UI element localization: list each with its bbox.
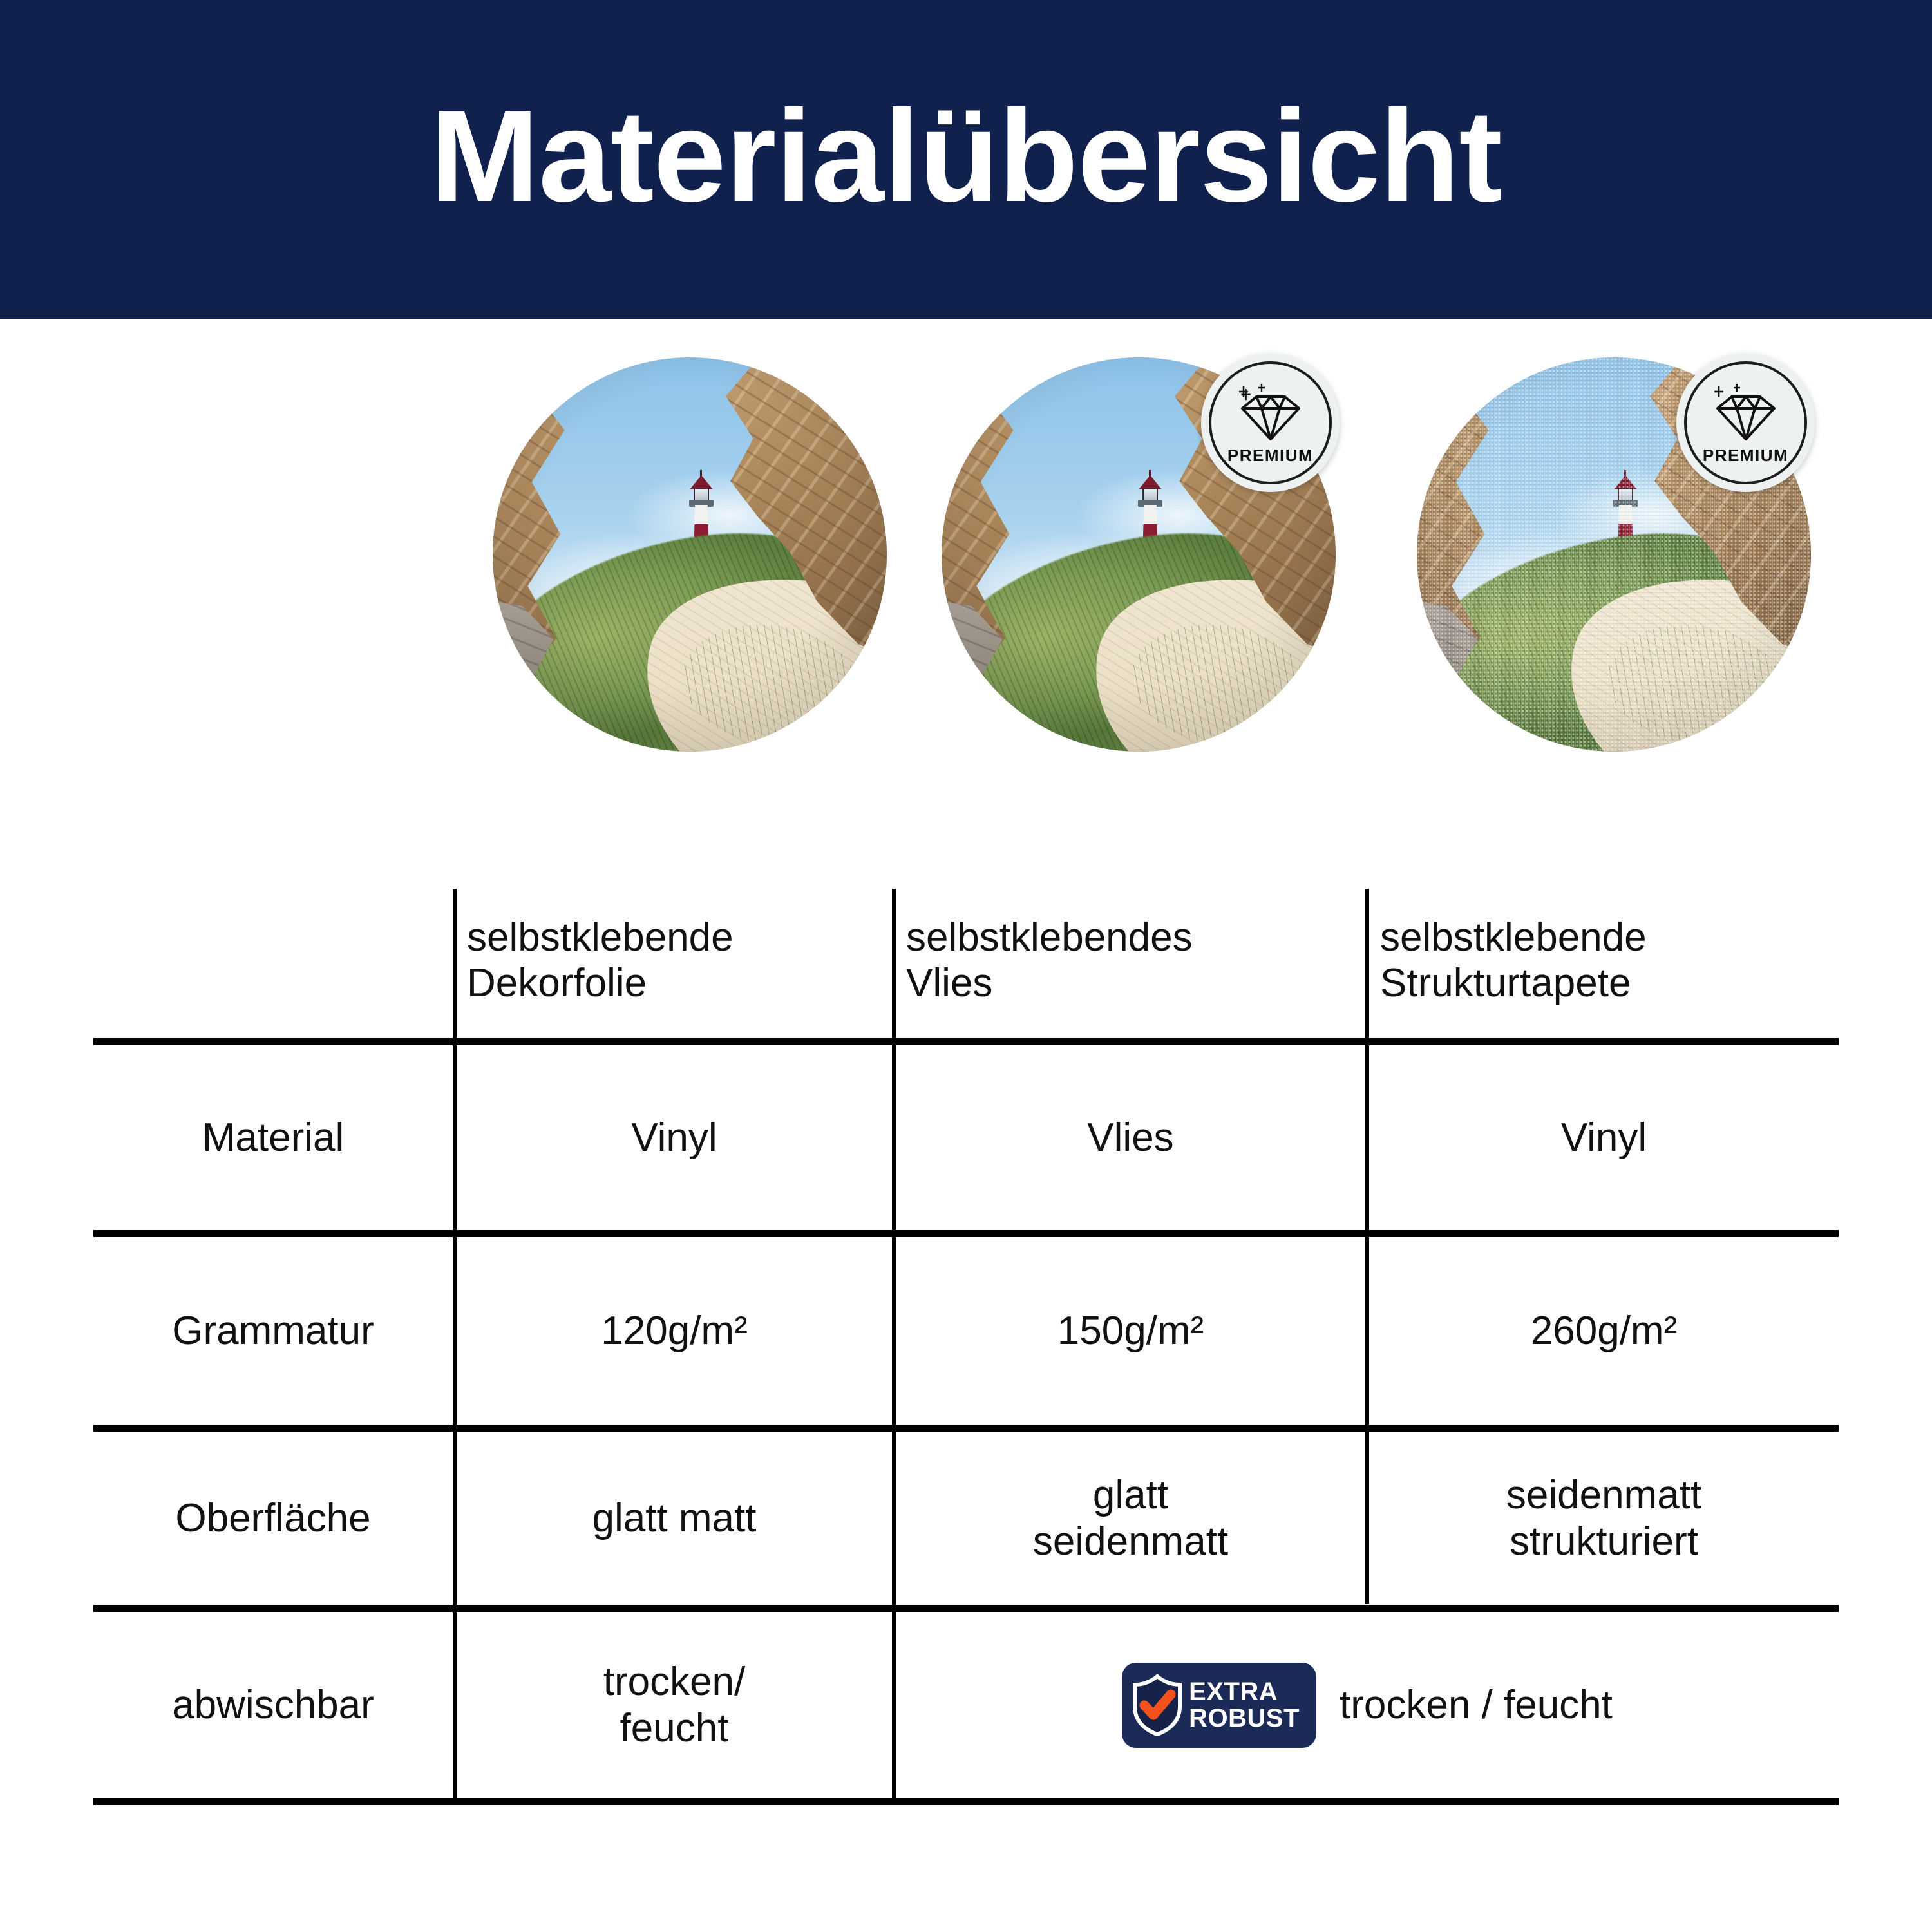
extra-robust-badge: EXTRA ROBUST — [1122, 1663, 1316, 1748]
extra-robust-line1: EXTRA — [1189, 1679, 1300, 1705]
preview-strukturtapete[interactable]: PREMIUM — [1417, 357, 1811, 752]
cell-material-strukturtapete: Vinyl — [1369, 1045, 1839, 1230]
diamond-icon — [1712, 380, 1779, 443]
row-divider-2 — [93, 1425, 1839, 1432]
cell-grammatur-dekorfolie: 120g/m² — [457, 1237, 892, 1425]
preview-vlies[interactable]: PREMIUM — [942, 357, 1336, 752]
column-header-1-line1: selbstklebende — [467, 914, 734, 960]
column-header-2-line1: selbstklebendes — [906, 914, 1193, 960]
column-header-1-line2: Dekorfolie — [467, 960, 647, 1006]
row-divider-bottom — [93, 1798, 1839, 1805]
row-label-material: Material — [93, 1045, 453, 1230]
column-header-3: selbstklebende Strukturtapete — [1380, 887, 1837, 1033]
cell-oberflaeche-strukturtapete: seidenmatt strukturiert — [1369, 1432, 1839, 1605]
material-spec-table: selbstklebende Dekorfolie selbstklebende… — [93, 857, 1839, 1803]
column-header-1: selbstklebende Dekorfolie — [467, 887, 879, 1033]
cell-abwischbar-merged: EXTRA ROBUST trocken / feucht — [896, 1612, 1839, 1798]
extra-robust-line2: ROBUST — [1189, 1705, 1300, 1732]
shield-check-icon — [1132, 1674, 1182, 1736]
row-label-abwischbar: abwischbar — [93, 1612, 453, 1798]
lighthouse-dune-scene — [493, 357, 887, 752]
column-header-3-line1: selbstklebende — [1380, 914, 1647, 960]
page-header: Materialübersicht — [0, 0, 1932, 319]
cell-material-vlies: Vlies — [896, 1045, 1365, 1230]
column-header-2: selbstklebendes Vlies — [906, 887, 1357, 1033]
page-title: Materialübersicht — [430, 91, 1502, 222]
cell-grammatur-strukturtapete: 260g/m² — [1369, 1237, 1839, 1425]
premium-badge-label: PREMIUM — [1227, 446, 1313, 466]
row-label-grammatur: Grammatur — [93, 1237, 453, 1425]
column-header-2-line2: Vlies — [906, 960, 992, 1006]
preview-dekorfolie[interactable] — [493, 357, 887, 752]
preview-image-dekorfolie — [493, 357, 887, 752]
cell-oberflaeche-dekorfolie: glatt matt — [457, 1432, 892, 1605]
cell-oberflaeche-vlies: glatt seidenmatt — [896, 1432, 1365, 1605]
cell-abwischbar-dekorfolie: trocken/ feucht — [457, 1612, 892, 1798]
row-divider-header — [93, 1038, 1839, 1045]
cell-grammatur-vlies: 150g/m² — [896, 1237, 1365, 1425]
material-preview-row: PREMIUM — [0, 357, 1932, 757]
row-label-oberflaeche: Oberfläche — [93, 1432, 453, 1605]
premium-badge-label: PREMIUM — [1703, 446, 1788, 466]
premium-badge: PREMIUM — [1201, 354, 1340, 492]
row-divider-3 — [93, 1605, 1839, 1612]
row-divider-1 — [93, 1230, 1839, 1237]
cell-material-dekorfolie: Vinyl — [457, 1045, 892, 1230]
premium-badge: PREMIUM — [1676, 354, 1815, 492]
column-header-3-line2: Strukturtapete — [1380, 960, 1631, 1006]
cell-abwischbar-merged-value: trocken / feucht — [1340, 1682, 1613, 1728]
diamond-icon — [1237, 380, 1304, 443]
